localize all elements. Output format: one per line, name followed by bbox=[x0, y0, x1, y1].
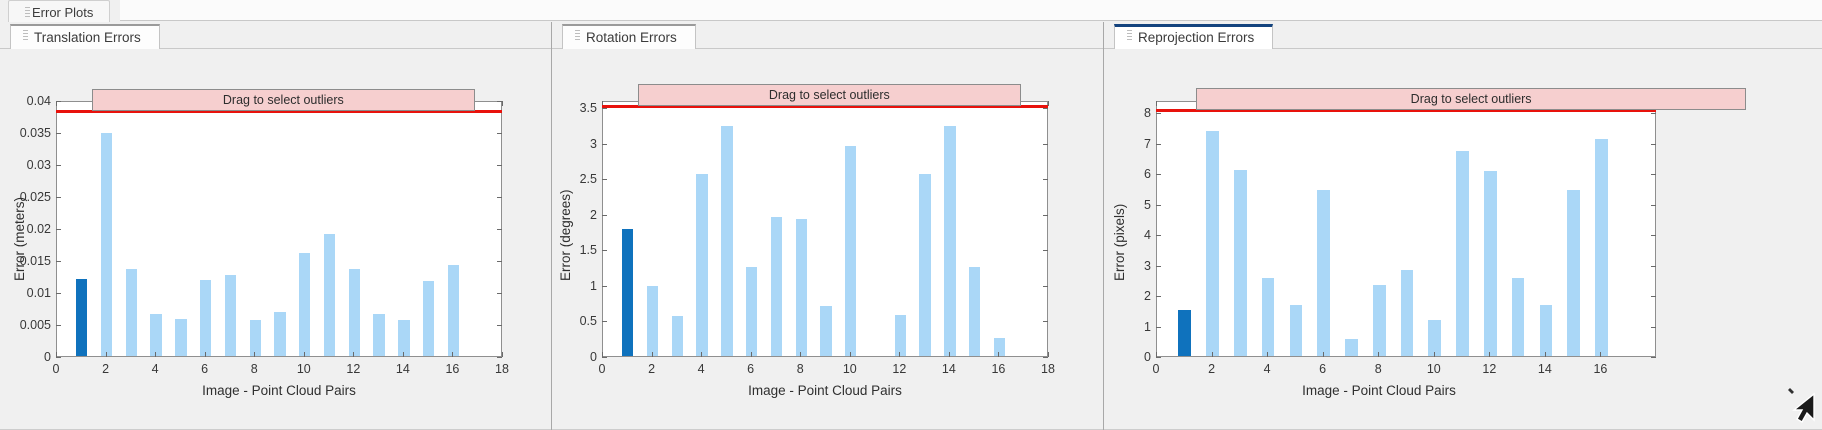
y-tick-label: 1 bbox=[1144, 320, 1151, 334]
y-tick-mark bbox=[497, 165, 502, 166]
x-tick-mark bbox=[1048, 101, 1049, 106]
bar[interactable] bbox=[373, 314, 384, 356]
x-tick-mark bbox=[56, 352, 57, 357]
y-tick-label: 0.005 bbox=[20, 318, 51, 332]
bar[interactable] bbox=[1567, 190, 1580, 356]
bar[interactable] bbox=[1317, 190, 1330, 356]
y-tick-label: 5 bbox=[1144, 198, 1151, 212]
y-tick-label: 0 bbox=[1144, 350, 1151, 364]
x-tick-label: 8 bbox=[1375, 362, 1382, 376]
bar[interactable] bbox=[126, 269, 137, 356]
y-axis-label-1: Error (meters) bbox=[12, 197, 27, 281]
x-tick-mark bbox=[304, 352, 305, 357]
x-tick-label: 6 bbox=[1319, 362, 1326, 376]
y-tick-mark bbox=[56, 229, 61, 230]
plot-area-3: Drag to select outliers 012345678 024681… bbox=[1104, 49, 1822, 430]
y-tick-label: 0 bbox=[44, 350, 51, 364]
bar[interactable] bbox=[175, 319, 186, 356]
x-tick-mark bbox=[899, 352, 900, 357]
bar[interactable] bbox=[696, 174, 707, 356]
y-tick-label: 8 bbox=[1144, 106, 1151, 120]
y-tick-mark bbox=[1651, 327, 1656, 328]
y-tick-label: 0.035 bbox=[20, 126, 51, 140]
y-tick-mark bbox=[497, 325, 502, 326]
x-tick-label: 14 bbox=[396, 362, 410, 376]
y-tick-label: 1 bbox=[590, 279, 597, 293]
y-tick-label: 7 bbox=[1144, 137, 1151, 151]
bar[interactable] bbox=[1373, 285, 1386, 356]
x-axis-label-1: Image - Point Cloud Pairs bbox=[56, 383, 502, 398]
tab-translation-errors[interactable]: Translation Errors bbox=[10, 24, 160, 49]
x-tick-mark bbox=[1156, 101, 1157, 106]
outlier-slider-3[interactable]: Drag to select outliers bbox=[1196, 88, 1746, 110]
y-tick-mark bbox=[56, 165, 61, 166]
y-tick-label: 1.5 bbox=[580, 243, 597, 257]
x-tick-label: 18 bbox=[495, 362, 509, 376]
y-tick-mark bbox=[1156, 144, 1161, 145]
y-tick-label: 2.5 bbox=[580, 172, 597, 186]
bar[interactable] bbox=[820, 306, 831, 356]
bar[interactable] bbox=[845, 146, 856, 356]
y-tick-mark bbox=[1156, 357, 1161, 358]
bar[interactable] bbox=[1540, 305, 1553, 356]
bar[interactable] bbox=[324, 234, 335, 356]
x-tick-mark bbox=[106, 352, 107, 357]
x-tick-mark bbox=[800, 352, 801, 357]
y-tick-mark bbox=[497, 261, 502, 262]
x-tick-label: 2 bbox=[1208, 362, 1215, 376]
bar[interactable] bbox=[895, 315, 906, 356]
outlier-slider-label: Drag to select outliers bbox=[223, 93, 344, 107]
x-tick-mark bbox=[254, 352, 255, 357]
y-tick-mark bbox=[1043, 357, 1048, 358]
bar[interactable] bbox=[274, 312, 285, 356]
x-tick-label: 0 bbox=[599, 362, 606, 376]
x-tick-label: 0 bbox=[1153, 362, 1160, 376]
y-tick-mark bbox=[1651, 235, 1656, 236]
bar[interactable] bbox=[721, 126, 732, 356]
bar[interactable] bbox=[398, 320, 409, 356]
y-tick-mark bbox=[1651, 357, 1656, 358]
x-tick-mark bbox=[998, 352, 999, 357]
y-tick-mark bbox=[602, 321, 607, 322]
bar[interactable] bbox=[1401, 270, 1414, 356]
bar[interactable] bbox=[76, 279, 87, 356]
x-tick-label: 6 bbox=[201, 362, 208, 376]
y-tick-mark bbox=[602, 144, 607, 145]
x-tick-mark bbox=[652, 352, 653, 357]
y-tick-mark bbox=[1043, 108, 1048, 109]
bar[interactable] bbox=[1428, 320, 1441, 356]
y-tick-mark bbox=[1651, 296, 1656, 297]
x-tick-label: 16 bbox=[1593, 362, 1607, 376]
y-tick-label: 3 bbox=[1144, 259, 1151, 273]
tab-row-3: Reprojection Errors bbox=[1104, 22, 1822, 49]
x-tick-label: 10 bbox=[843, 362, 857, 376]
y-tick-label: 2 bbox=[1144, 289, 1151, 303]
bar[interactable] bbox=[1262, 278, 1275, 356]
y-tick-label: 0 bbox=[590, 350, 597, 364]
chart-translation-errors[interactable]: Drag to select outliers 00.0050.010.0150… bbox=[56, 101, 502, 357]
axes-box-3 bbox=[1156, 101, 1656, 357]
x-tick-label: 0 bbox=[53, 362, 60, 376]
bar[interactable] bbox=[250, 320, 261, 356]
y-tick-mark bbox=[602, 108, 607, 109]
x-tick-mark bbox=[1212, 352, 1213, 357]
x-tick-mark bbox=[1489, 352, 1490, 357]
tab-rotation-errors[interactable]: Rotation Errors bbox=[562, 24, 696, 49]
outlier-slider-2[interactable]: Drag to select outliers bbox=[638, 84, 1021, 106]
plot-panels-container: Translation Errors Drag to select outlie… bbox=[0, 22, 1822, 430]
y-tick-label: 3.5 bbox=[580, 101, 597, 115]
x-tick-mark bbox=[1600, 352, 1601, 357]
panel-reprojection-errors: Reprojection Errors Drag to select outli… bbox=[1104, 22, 1822, 430]
x-tick-mark bbox=[1545, 352, 1546, 357]
bar[interactable] bbox=[796, 219, 807, 356]
document-tab-label: Error Plots bbox=[32, 5, 93, 20]
bar[interactable] bbox=[448, 265, 459, 356]
error-plots-window: Error Plots Translation Errors Drag to s… bbox=[0, 0, 1822, 430]
x-tick-label: 12 bbox=[892, 362, 906, 376]
plot-area-1: Drag to select outliers 00.0050.010.0150… bbox=[0, 49, 551, 430]
bar[interactable] bbox=[746, 267, 757, 356]
y-tick-label: 2 bbox=[590, 208, 597, 222]
tab-row-2: Rotation Errors bbox=[552, 22, 1103, 49]
y-tick-mark bbox=[1043, 179, 1048, 180]
y-axis-label-3: Error (pixels) bbox=[1112, 204, 1127, 281]
y-tick-mark bbox=[1043, 250, 1048, 251]
bar[interactable] bbox=[672, 316, 683, 356]
bar[interactable] bbox=[1512, 278, 1525, 356]
y-tick-mark bbox=[497, 357, 502, 358]
x-tick-mark bbox=[205, 352, 206, 357]
bar[interactable] bbox=[1290, 305, 1303, 357]
bar[interactable] bbox=[647, 286, 658, 356]
y-tick-mark bbox=[1651, 266, 1656, 267]
bar[interactable] bbox=[200, 280, 211, 356]
y-tick-mark bbox=[497, 293, 502, 294]
y-tick-label: 0.01 bbox=[27, 286, 51, 300]
tab-row-1: Translation Errors bbox=[0, 22, 551, 49]
y-tick-mark bbox=[1651, 174, 1656, 175]
bar[interactable] bbox=[1484, 171, 1497, 356]
x-tick-mark bbox=[1378, 352, 1379, 357]
bar[interactable] bbox=[622, 229, 633, 356]
bar[interactable] bbox=[1345, 339, 1358, 356]
y-tick-mark bbox=[56, 197, 61, 198]
bar-series-1 bbox=[57, 102, 501, 356]
plot-area-2: Drag to select outliers 00.511.522.533.5… bbox=[552, 49, 1103, 430]
y-tick-label: 0.5 bbox=[580, 314, 597, 328]
outlier-slider-label: Drag to select outliers bbox=[1411, 92, 1532, 106]
x-tick-label: 14 bbox=[1538, 362, 1552, 376]
bar[interactable] bbox=[1206, 131, 1219, 356]
drag-grip-icon bbox=[25, 7, 30, 20]
x-tick-label: 18 bbox=[1041, 362, 1055, 376]
y-tick-mark bbox=[602, 250, 607, 251]
y-tick-mark bbox=[1156, 235, 1161, 236]
tab-label: Rotation Errors bbox=[586, 30, 677, 45]
tab-label: Translation Errors bbox=[34, 30, 141, 45]
bar[interactable] bbox=[349, 269, 360, 356]
x-tick-mark bbox=[751, 352, 752, 357]
x-tick-label: 16 bbox=[991, 362, 1005, 376]
bar[interactable] bbox=[299, 253, 310, 356]
y-tick-mark bbox=[1651, 205, 1656, 206]
x-tick-label: 4 bbox=[1264, 362, 1271, 376]
x-tick-label: 4 bbox=[152, 362, 159, 376]
tab-reprojection-errors[interactable]: Reprojection Errors bbox=[1114, 24, 1273, 49]
y-tick-mark bbox=[56, 133, 61, 134]
axes-box-2 bbox=[602, 101, 1048, 357]
x-tick-mark bbox=[701, 352, 702, 357]
y-tick-mark bbox=[602, 286, 607, 287]
outlier-slider-1[interactable]: Drag to select outliers bbox=[92, 89, 475, 111]
x-tick-label: 2 bbox=[102, 362, 109, 376]
y-tick-label: 0.03 bbox=[27, 158, 51, 172]
document-tab-error-plots[interactable]: Error Plots bbox=[8, 0, 110, 22]
x-tick-label: 12 bbox=[1482, 362, 1496, 376]
bar[interactable] bbox=[1234, 170, 1247, 356]
y-tick-mark bbox=[602, 357, 607, 358]
bar[interactable] bbox=[423, 281, 434, 356]
x-axis-label-2: Image - Point Cloud Pairs bbox=[602, 383, 1048, 398]
bar[interactable] bbox=[225, 275, 236, 356]
bar-series-3 bbox=[1157, 102, 1655, 356]
panel-rotation-errors: Rotation Errors Drag to select outliers … bbox=[552, 22, 1104, 430]
x-tick-mark bbox=[502, 352, 503, 357]
y-tick-mark bbox=[1156, 296, 1161, 297]
y-tick-label: 0.04 bbox=[27, 94, 51, 108]
x-tick-mark bbox=[403, 352, 404, 357]
bar[interactable] bbox=[1456, 151, 1469, 356]
x-tick-label: 2 bbox=[648, 362, 655, 376]
drag-grip-icon bbox=[575, 30, 580, 42]
bar[interactable] bbox=[1178, 310, 1191, 356]
chart-reprojection-errors[interactable]: Drag to select outliers 012345678 024681… bbox=[1156, 101, 1656, 357]
bar[interactable] bbox=[969, 267, 980, 356]
x-tick-mark bbox=[1156, 352, 1157, 357]
bar[interactable] bbox=[1595, 139, 1608, 356]
y-tick-mark bbox=[497, 197, 502, 198]
x-tick-label: 14 bbox=[942, 362, 956, 376]
x-tick-mark bbox=[1323, 352, 1324, 357]
drag-grip-icon bbox=[1127, 30, 1132, 42]
x-tick-mark bbox=[949, 352, 950, 357]
bar[interactable] bbox=[771, 217, 782, 356]
x-axis-label-3: Image - Point Cloud Pairs bbox=[1156, 383, 1602, 398]
x-tick-mark bbox=[56, 101, 57, 106]
x-tick-label: 12 bbox=[346, 362, 360, 376]
x-tick-label: 6 bbox=[747, 362, 754, 376]
outlier-slider-label: Drag to select outliers bbox=[769, 88, 890, 102]
y-tick-mark bbox=[602, 179, 607, 180]
y-tick-mark bbox=[1043, 144, 1048, 145]
y-tick-mark bbox=[1156, 327, 1161, 328]
bar[interactable] bbox=[919, 174, 930, 356]
x-tick-mark bbox=[1434, 352, 1435, 357]
y-tick-mark bbox=[56, 293, 61, 294]
y-tick-mark bbox=[1651, 144, 1656, 145]
y-tick-mark bbox=[56, 261, 61, 262]
resize-diagonal-cursor bbox=[1784, 386, 1818, 430]
y-tick-mark bbox=[1043, 215, 1048, 216]
x-tick-mark bbox=[155, 352, 156, 357]
y-tick-mark bbox=[497, 229, 502, 230]
drag-grip-icon bbox=[23, 30, 28, 42]
x-tick-label: 16 bbox=[445, 362, 459, 376]
bar[interactable] bbox=[150, 314, 161, 356]
y-tick-mark bbox=[1156, 174, 1161, 175]
y-tick-mark bbox=[602, 215, 607, 216]
y-tick-mark bbox=[1043, 321, 1048, 322]
x-tick-mark bbox=[602, 352, 603, 357]
tab-label: Reprojection Errors bbox=[1138, 30, 1254, 45]
y-tick-mark bbox=[56, 357, 61, 358]
x-tick-label: 8 bbox=[797, 362, 804, 376]
x-tick-label: 8 bbox=[251, 362, 258, 376]
bar[interactable] bbox=[944, 126, 955, 356]
y-tick-mark bbox=[497, 133, 502, 134]
x-tick-label: 10 bbox=[1427, 362, 1441, 376]
bar[interactable] bbox=[101, 133, 112, 356]
chart-rotation-errors[interactable]: Drag to select outliers 00.511.522.533.5… bbox=[602, 101, 1048, 357]
x-tick-label: 10 bbox=[297, 362, 311, 376]
axes-box-1 bbox=[56, 101, 502, 357]
x-tick-mark bbox=[353, 352, 354, 357]
bar-series-2 bbox=[603, 102, 1047, 356]
y-tick-mark bbox=[1043, 286, 1048, 287]
y-tick-mark bbox=[1156, 266, 1161, 267]
y-axis-label-2: Error (degrees) bbox=[558, 189, 573, 281]
y-tick-label: 0.02 bbox=[27, 222, 51, 236]
x-tick-label: 4 bbox=[698, 362, 705, 376]
y-tick-label: 3 bbox=[590, 137, 597, 151]
y-tick-label: 6 bbox=[1144, 167, 1151, 181]
y-tick-mark bbox=[1156, 205, 1161, 206]
y-tick-mark bbox=[1651, 113, 1656, 114]
document-tab-bar: Error Plots bbox=[0, 0, 1822, 22]
x-tick-mark bbox=[1267, 352, 1268, 357]
x-tick-mark bbox=[502, 101, 503, 106]
document-tab-bar-filler bbox=[120, 0, 1822, 21]
x-tick-mark bbox=[1048, 352, 1049, 357]
panel-translation-errors: Translation Errors Drag to select outlie… bbox=[0, 22, 552, 430]
y-tick-mark bbox=[56, 325, 61, 326]
x-tick-mark bbox=[850, 352, 851, 357]
y-tick-label: 4 bbox=[1144, 228, 1151, 242]
x-tick-mark bbox=[452, 352, 453, 357]
y-tick-mark bbox=[1156, 113, 1161, 114]
